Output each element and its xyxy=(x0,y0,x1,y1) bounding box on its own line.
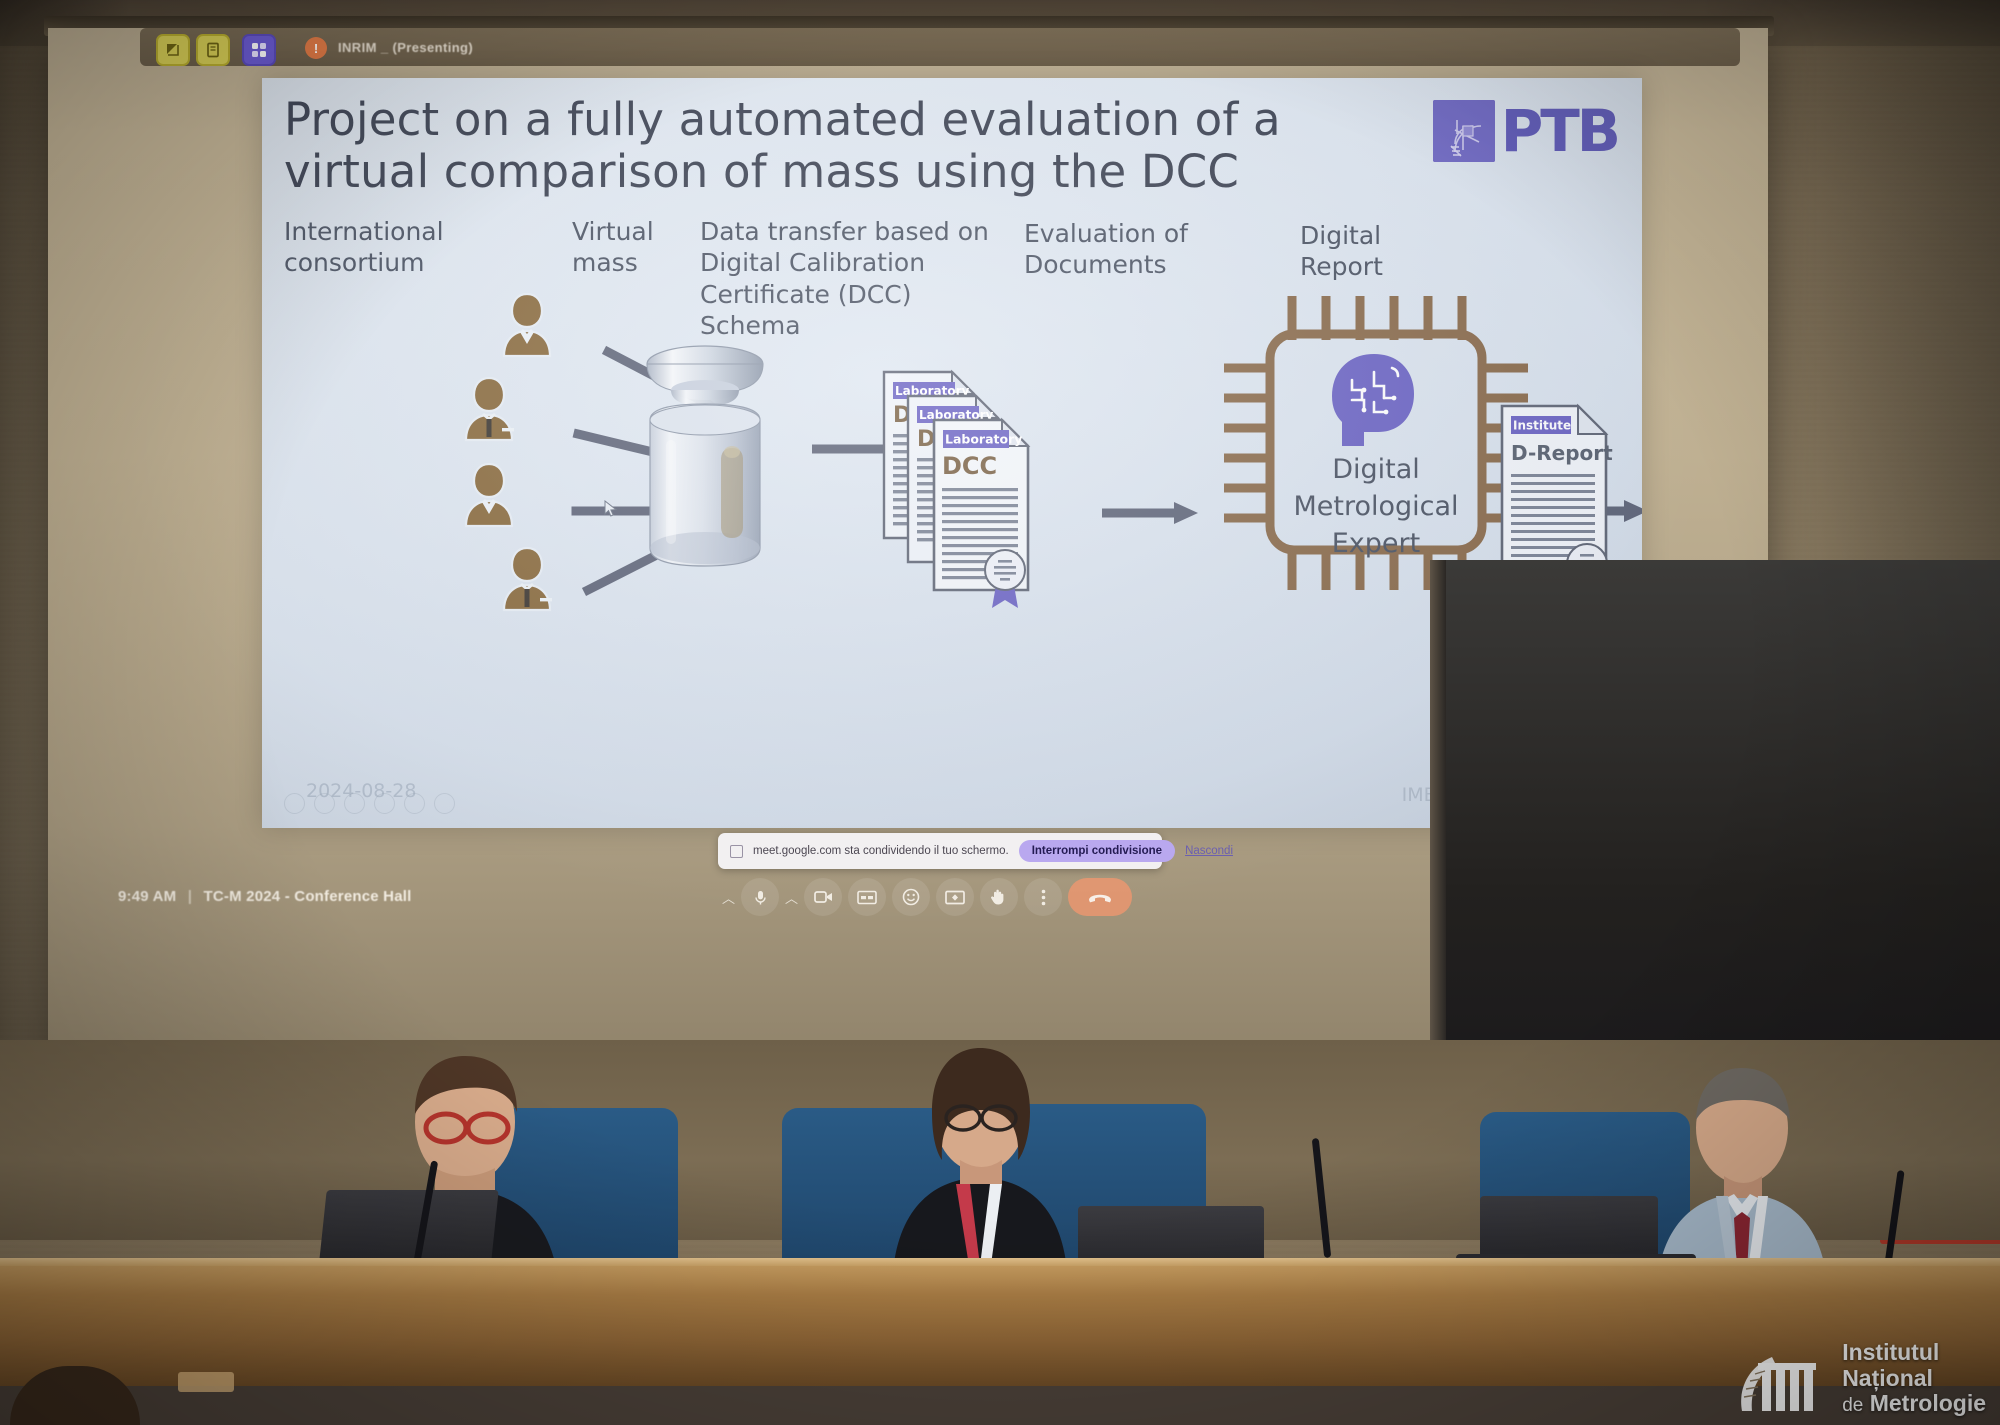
conference-table xyxy=(0,1266,2000,1386)
arrow-dcc-to-chip xyxy=(1102,498,1202,528)
inm-line-2: Național xyxy=(1842,1366,1986,1392)
inm-logo-text: Institutul Național de Metrologie xyxy=(1842,1340,1986,1417)
leave-call-button[interactable] xyxy=(1068,878,1132,916)
conference-room-screenshot: ! INRIM _ (Presenting) Project on a full… xyxy=(0,0,2000,1425)
inm-line-3-prefix: de xyxy=(1842,1395,1863,1416)
mic-options-caret[interactable]: ︿ xyxy=(722,888,735,907)
slide-title: Project on a fully automated evaluation … xyxy=(284,94,1344,198)
stop-sharing-button[interactable]: Interrompi condivisione xyxy=(1019,840,1175,862)
mouse-cursor-icon xyxy=(604,500,618,518)
svg-text:Laboratory: Laboratory xyxy=(945,432,1022,447)
meet-meeting-name: TC-M 2024 - Conference Hall xyxy=(204,888,412,905)
screen-share-banner: meet.google.com sta condividendo il tuo … xyxy=(718,833,1162,869)
slide-prev-button[interactable] xyxy=(284,793,305,814)
meet-separator: | xyxy=(188,888,192,905)
share-screen-icon[interactable] xyxy=(156,34,190,66)
microphone-button[interactable] xyxy=(741,878,779,916)
inm-line-3-main: Metrologie xyxy=(1870,1390,1986,1416)
inm-logo: Institutul Național de Metrologie xyxy=(1732,1340,1986,1417)
document-icon[interactable] xyxy=(196,34,230,66)
raise-hand-button[interactable] xyxy=(980,878,1018,916)
ptb-logo: PTB xyxy=(1433,100,1618,162)
hide-banner-link[interactable]: Nascondi xyxy=(1185,845,1233,857)
column-label-international-consortium: International consortium xyxy=(284,216,484,279)
meet-clock-time: 9:49 AM xyxy=(118,888,176,905)
meet-control-bar: ︿ ︿ xyxy=(722,878,1132,916)
captions-button[interactable] xyxy=(848,878,886,916)
share-screen-small-icon xyxy=(730,845,743,858)
floor xyxy=(0,1386,2000,1425)
share-message: meet.google.com sta condividendo il tuo … xyxy=(753,845,1009,857)
column-label-virtual-mass: Virtual mass xyxy=(572,216,692,279)
meet-status-text: 9:49 AM | TC-M 2024 - Conference Hall xyxy=(118,888,411,905)
ptb-logo-mark xyxy=(1433,100,1495,162)
column-label-digital-report: Digital Report xyxy=(1300,220,1440,283)
svg-text:D: D xyxy=(917,427,935,452)
table-panel-detail xyxy=(178,1372,234,1392)
mass-weight-illustration xyxy=(610,328,800,613)
slide-player-controls[interactable] xyxy=(284,793,455,814)
inm-line-1: Institutul xyxy=(1842,1340,1986,1366)
svg-text:D-Report: D-Report xyxy=(1511,441,1613,465)
slide-more-button[interactable] xyxy=(434,793,455,814)
camera-options-caret[interactable]: ︿ xyxy=(785,888,798,907)
more-options-button[interactable] xyxy=(1024,878,1062,916)
present-button[interactable] xyxy=(936,878,974,916)
camera-button[interactable] xyxy=(804,878,842,916)
slide-menu-button[interactable] xyxy=(374,793,395,814)
svg-text:DCC: DCC xyxy=(942,452,997,480)
svg-text:Institute: Institute xyxy=(1513,419,1571,433)
ptb-logo-text: PTB xyxy=(1501,102,1618,160)
inm-line-3: de Metrologie xyxy=(1842,1391,1986,1417)
svg-text:Metrological: Metrological xyxy=(1293,491,1458,522)
presenting-alert-badge: ! xyxy=(305,37,327,59)
presenting-label: INRIM _ (Presenting) xyxy=(338,40,473,55)
slide-fullscreen-button[interactable] xyxy=(404,793,425,814)
column-label-evaluation: Evaluation of Documents xyxy=(1024,218,1254,281)
svg-text:Digital: Digital xyxy=(1332,454,1420,485)
column-label-data-transfer: Data transfer based on Digital Calibrati… xyxy=(700,216,1010,341)
svg-text:Expert: Expert xyxy=(1332,528,1420,559)
reactions-button[interactable] xyxy=(892,878,930,916)
meet-grid-icon[interactable] xyxy=(242,34,276,66)
inm-logo-mark xyxy=(1732,1341,1830,1415)
slide-pen-button[interactable] xyxy=(344,793,365,814)
dcc-document-stack: Laboratory D Laborat xyxy=(862,360,1122,625)
slide-play-button[interactable] xyxy=(314,793,335,814)
